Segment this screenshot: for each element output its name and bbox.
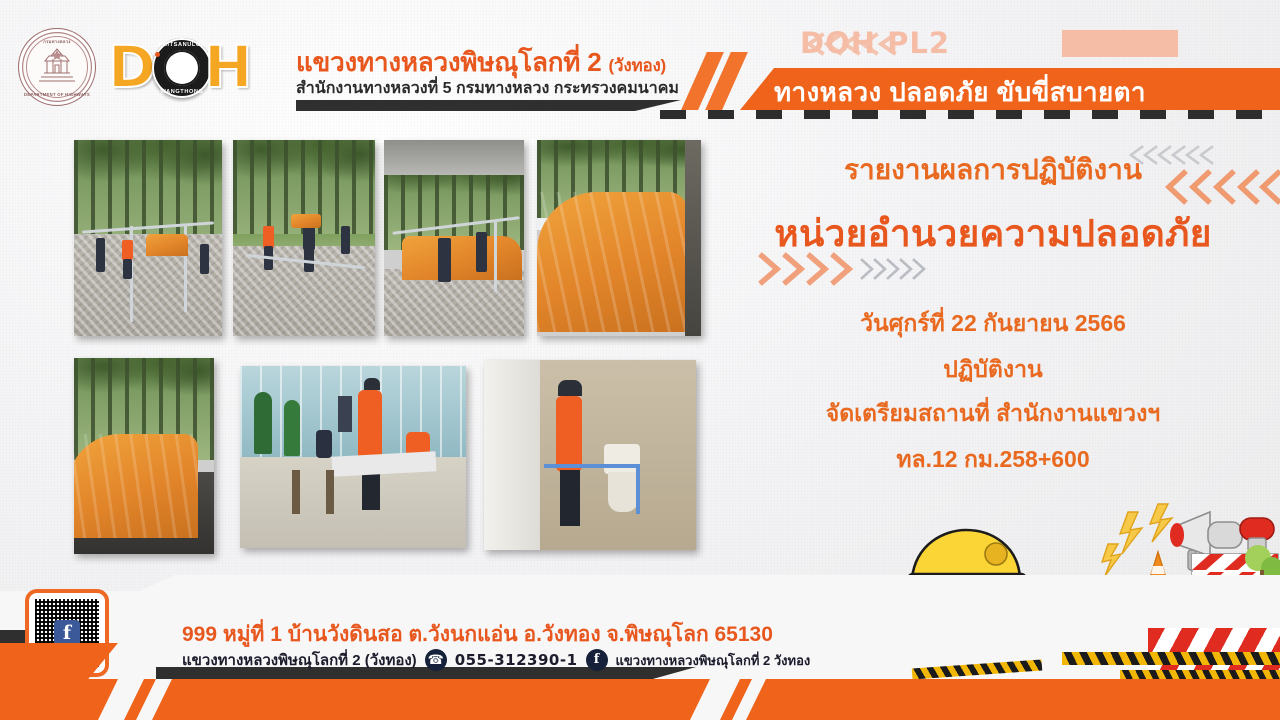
doh-logo: D PHITSANULOK WANGTHONG H: [108, 36, 286, 98]
header-dark-rule: [296, 100, 681, 111]
header-title-main: แขวงทางหลวงพิษณุโลกที่ 2: [296, 47, 602, 77]
report-panel: รายงานผลการปฏิบัติงาน หน่วยอำนวยความปลอด…: [706, 140, 1280, 500]
photo-4: [537, 140, 701, 336]
footer-orange-bar: [0, 679, 1280, 720]
report-activity-label: ปฏิบัติงาน: [706, 352, 1280, 388]
logo-letter-h: H: [204, 38, 253, 96]
watermark-block: [1062, 30, 1178, 57]
seal-bottom-text: DEPARTMENT OF HIGHWAYS: [19, 92, 95, 97]
road-dash-rule: [660, 110, 1280, 119]
facebook-icon: f: [54, 620, 80, 646]
slogan-banner: ทางหลวง ปลอดภัย ขับขี่สบายตา: [740, 68, 1280, 110]
facebook-page-icon: f: [586, 649, 608, 671]
footer-address: 999 หมู่ที่ 1 บ้านวังดินสอ ต.วังนกแอ่น อ…: [182, 618, 773, 651]
report-date: วันศุกร์ที่ 22 กันยายน 2566: [706, 306, 1280, 342]
department-seal-icon: กรมทางหลวง DEPARTMENT OF HIGHWAYS: [18, 28, 96, 106]
poster-header: กรมทางหลวง DEPARTMENT OF HIGHWAYS D PHIT…: [0, 0, 1280, 122]
chevron-right-small-icon: [858, 257, 940, 281]
footer-office-name: แขวงทางหลวงพิษณุโลกที่ 2 (วังทอง): [182, 648, 417, 672]
logo-letter-d: D: [108, 38, 156, 96]
footer-phone[interactable]: 055-312390-1: [455, 651, 578, 669]
photo-7: [484, 360, 696, 550]
poster-canvas: กรมทางหลวง DEPARTMENT OF HIGHWAYS D PHIT…: [0, 0, 1280, 720]
photo-6: [240, 366, 466, 548]
chevron-left-small-icon: [1124, 144, 1216, 166]
seal-top-text: กรมทางหลวง: [19, 38, 95, 45]
footer-contact-row: แขวงทางหลวงพิษณุโลกที่ 2 (วังทอง) ☎ 055-…: [182, 648, 810, 672]
logo-ring-o: PHITSANULOK WANGTHONG: [152, 38, 212, 98]
report-location: ทล.12 กม.258+600: [706, 442, 1280, 478]
photo-3: [384, 140, 524, 336]
report-activity-desc: จัดเตรียมสถานที่ สำนักงานแขวงฯ: [706, 396, 1280, 432]
seal-emblem-icon: [35, 47, 79, 87]
barricade-stripes-icon: [1148, 628, 1280, 672]
phone-icon: ☎: [425, 649, 447, 671]
logo-ring-top-text: PHITSANULOK: [152, 42, 212, 48]
slogan-text: ทางหลวง ปลอดภัย ขับขี่สบายตา: [774, 72, 1276, 113]
chevron-left-large-icon: [1158, 168, 1280, 206]
watermark-text: DOH PL2: [800, 26, 950, 60]
header-subtitle: สำนักงานทางหลวงที่ 5 กรมทางหลวง กระทรวงค…: [296, 76, 679, 101]
photo-1: [74, 140, 222, 336]
logo-accent-dot: [155, 52, 160, 57]
footer-facebook-name[interactable]: แขวงทางหลวงพิษณุโลกที่ 2 วังทอง: [616, 650, 811, 671]
hazard-strip-1-icon: [1062, 652, 1280, 665]
header-title-suffix: (วังทอง): [609, 56, 667, 75]
photo-2: [233, 140, 375, 336]
photo-5: [74, 358, 214, 554]
logo-ring-bottom-text: WANGTHONG: [152, 89, 212, 95]
